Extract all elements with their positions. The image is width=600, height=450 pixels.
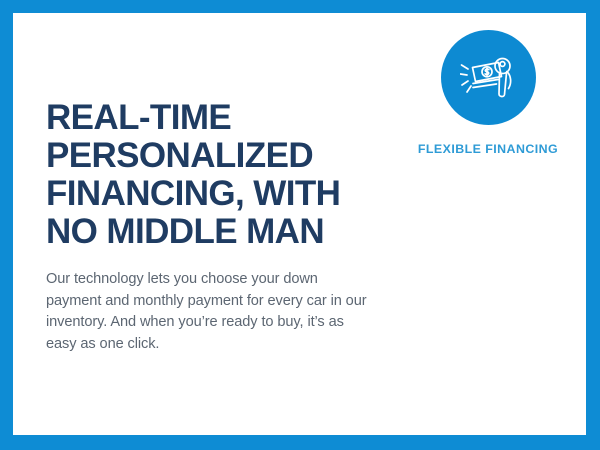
cash-and-key-icon [460,53,516,103]
page-title: REAL-TIME PERSONALIZED FINANCING, WITH N… [46,99,396,251]
feature-badge: FLEXIBLE FINANCING [398,30,578,156]
promo-card-inner: REAL-TIME PERSONALIZED FINANCING, WITH N… [13,13,586,435]
text-content-column: REAL-TIME PERSONALIZED FINANCING, WITH N… [46,99,396,355]
promo-card: REAL-TIME PERSONALIZED FINANCING, WITH N… [0,0,600,450]
body-paragraph: Our technology lets you choose your down… [46,251,376,355]
badge-circle [441,30,536,125]
badge-label: FLEXIBLE FINANCING [398,125,578,156]
